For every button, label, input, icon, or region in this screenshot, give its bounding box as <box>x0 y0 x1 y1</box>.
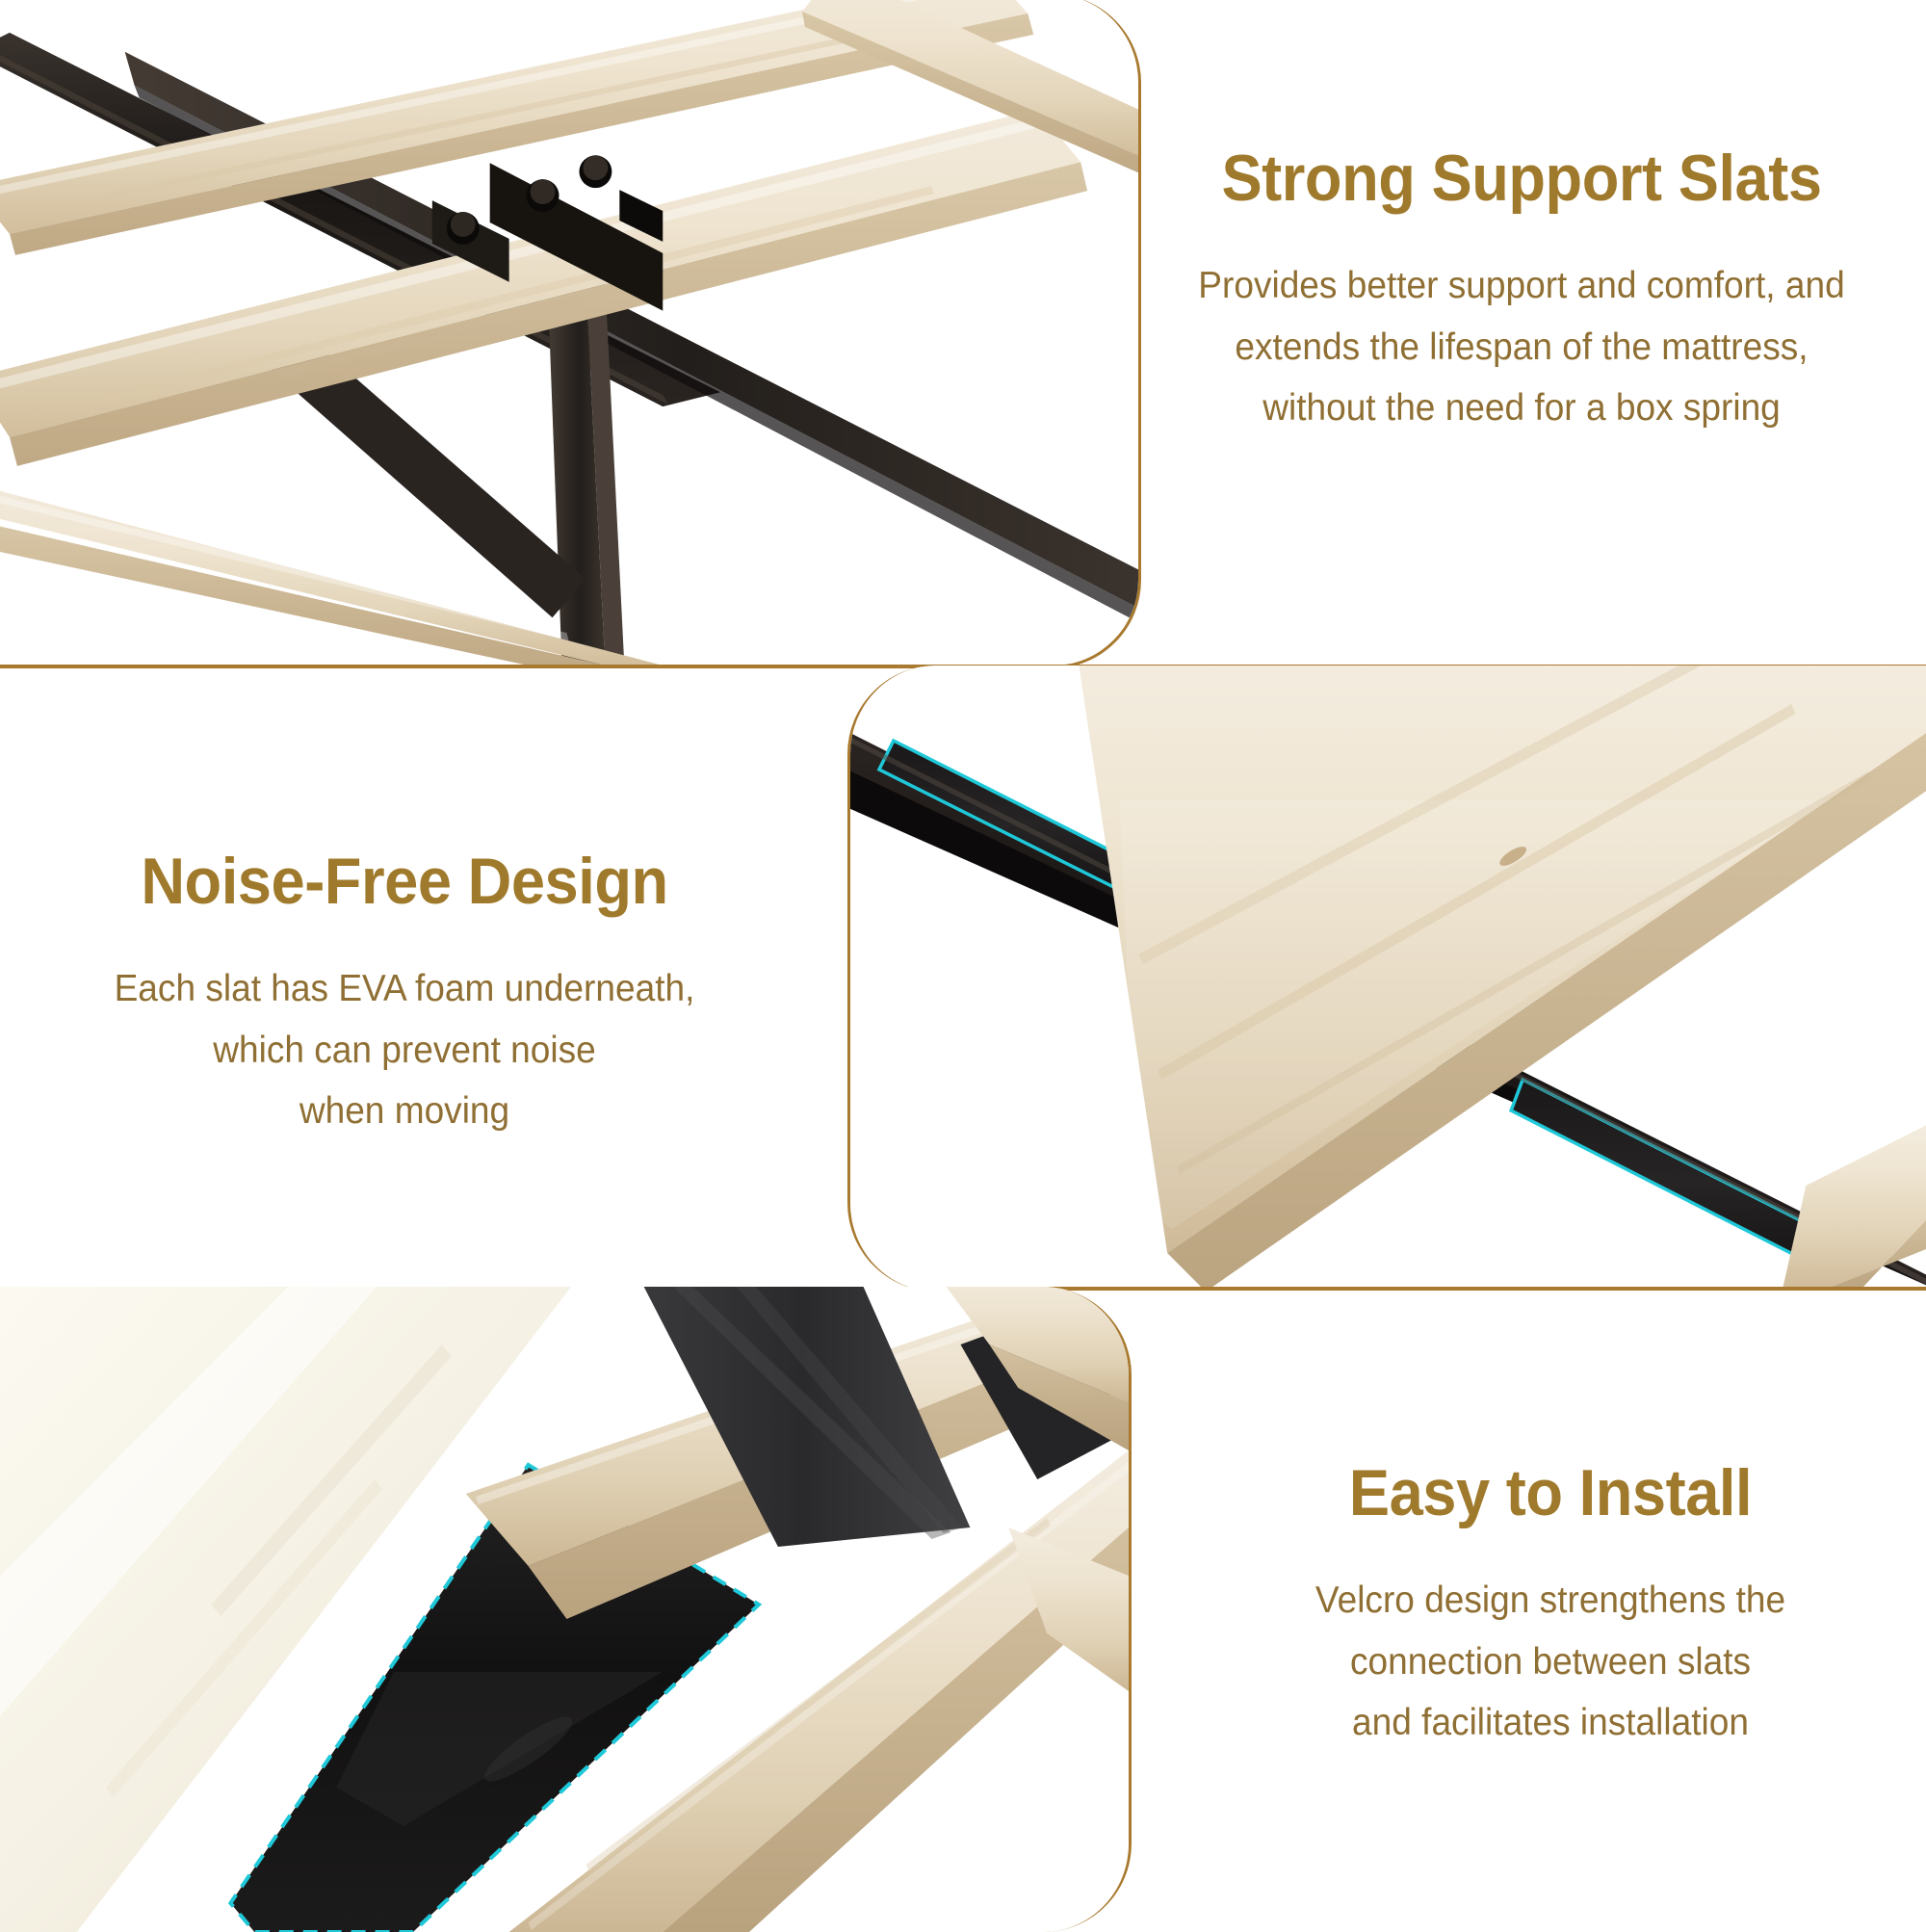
feature-panel-easy-to-install: Easy to Install Velcro design strengthen… <box>0 1291 1926 1926</box>
feature-description: Velcro design strengthens the connection… <box>1203 1570 1898 1753</box>
feature-description-line: Each slat has EVA foam underneath, <box>57 958 752 1019</box>
feature-description-line: and facilitates installation <box>1203 1692 1898 1753</box>
feature-description-line: which can prevent noise <box>57 1020 752 1081</box>
feature-description-line: connection between slats <box>1203 1632 1898 1692</box>
eva-foam-slat-photo <box>850 666 1926 1292</box>
feature-title: Noise-Free Design <box>65 848 745 916</box>
product-feature-infographic: Strong Support Slats Provides better sup… <box>0 0 1926 1926</box>
feature-image-frame-2 <box>847 666 1926 1292</box>
feature-description-line: Provides better support and comfort, and <box>1156 255 1887 316</box>
feature-description-line: when moving <box>57 1081 752 1141</box>
feature-description: Each slat has EVA foam underneath, which… <box>57 958 752 1141</box>
feature-text-block-1: Strong Support Slats Provides better sup… <box>1136 144 1907 438</box>
velcro-strap-photo <box>0 1287 1129 1932</box>
feature-title: Easy to Install <box>1210 1459 1891 1527</box>
feature-text-block-3: Easy to Install Velcro design strengthen… <box>1184 1459 1916 1753</box>
feature-description-line: extends the lifespan of the mattress, <box>1156 317 1887 378</box>
feature-description-line: without the need for a box spring <box>1156 378 1887 438</box>
feature-panel-strong-support-slats: Strong Support Slats Provides better sup… <box>0 0 1926 666</box>
feature-title: Strong Support Slats <box>1163 144 1880 213</box>
feature-image-frame-1 <box>0 0 1141 668</box>
bed-slats-photo <box>0 0 1138 666</box>
feature-description: Provides better support and comfort, and… <box>1156 255 1887 438</box>
feature-image-frame-3 <box>0 1287 1132 1932</box>
feature-description-line: Velcro design strengthens the <box>1203 1570 1898 1631</box>
feature-text-block-2: Noise-Free Design Each slat has EVA foam… <box>39 848 770 1141</box>
feature-panel-noise-free-design: Noise-Free Design Each slat has EVA foam… <box>0 669 1926 1288</box>
